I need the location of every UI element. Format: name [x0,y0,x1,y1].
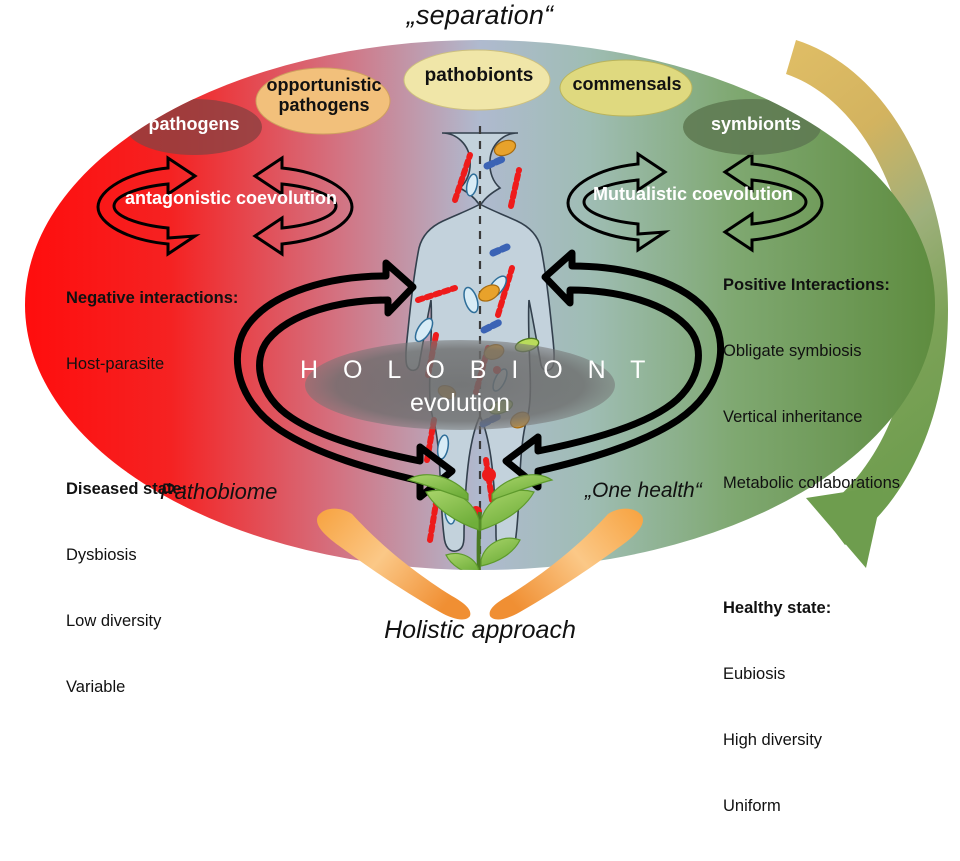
right-state-item-1: High diversity [723,729,955,751]
right-panel-text: Positive Interactions: Obligate symbiosi… [723,230,955,861]
left-state-item-2: Variable [66,676,296,698]
right-interactions-item-1: Vertical inheritance [723,406,955,428]
left-panel-spacer [66,419,296,434]
caption-holistic-approach: Holistic approach [0,616,960,645]
left-interactions-heading: Negative interactions: [66,287,296,309]
bubble-label-symbionts: symbionts [688,114,824,134]
bubble-label-pathogens: pathogens [124,114,264,134]
bubble-label-opportunistic-pathogens: opportunistic pathogens [252,75,396,115]
bubble-label-pathobionts: pathobionts [404,65,554,86]
right-interactions-item-0: Obligate symbiosis [723,340,955,362]
left-interactions-item-0: Host-parasite [66,353,296,375]
holobiont-subtitle: evolution [300,389,620,418]
left-state-item-0: Dysbiosis [66,544,296,566]
label-pathobiome: Pathobiome [160,479,277,505]
right-panel-spacer [723,538,955,553]
label-antagonistic-coevolution: antagonistic coevolution [100,188,362,209]
label-mutualistic-coevolution: Mutualistic coevolution [570,184,816,205]
figure-canvas: „separation“ pathogens opportunistic pat… [0,0,960,649]
right-state-item-2: Uniform [723,795,955,817]
holobiont-title: H O L O B I O N T [300,356,620,385]
label-one-health: „One health“ [585,479,702,503]
right-interactions-heading: Positive Interactions: [723,274,955,296]
bubble-label-commensals: commensals [556,74,698,94]
figure-title-separation: „separation“ [0,0,960,31]
right-interactions-item-2: Metabolic collaborations [723,472,955,494]
right-state-item-0: Eubiosis [723,663,955,685]
